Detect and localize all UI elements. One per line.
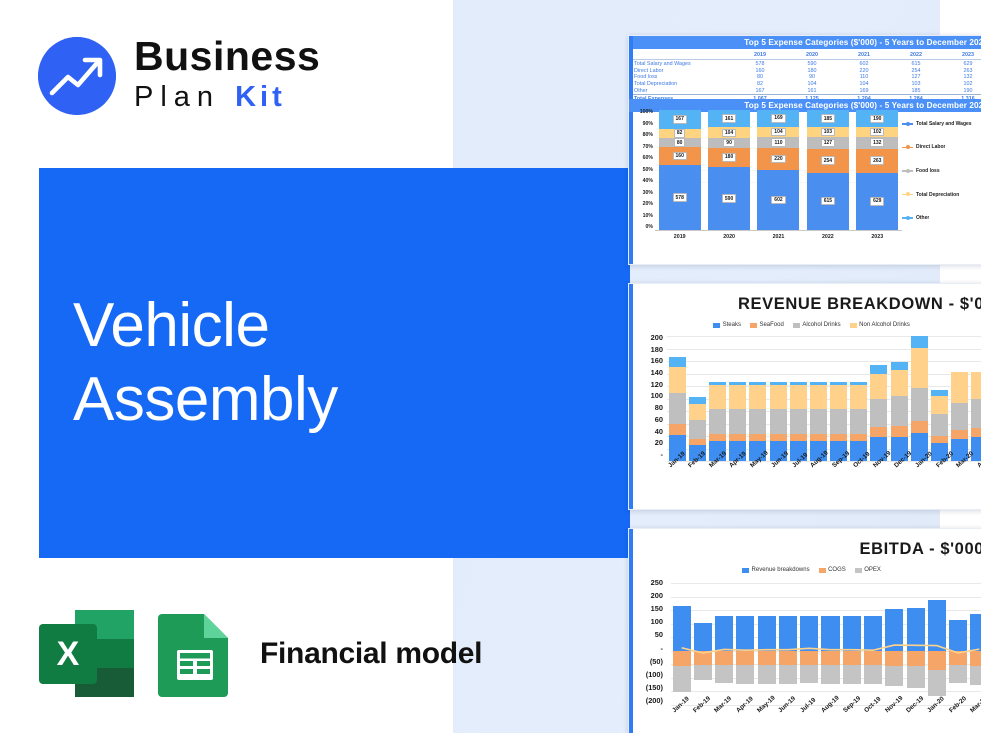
bar-segment [669,357,686,367]
legend-item[interactable]: Total Salary and Wages [902,121,981,127]
brand-line-plan-kit: Plan Kit [134,80,320,114]
bar-segment [709,434,726,442]
col-2022: 2022 [890,52,942,60]
cell: 161 [786,88,838,95]
table-row: Direct Labor 160 180 220 254 263 [629,67,981,74]
legend-swatch [793,323,800,328]
cell: 80 [734,74,786,81]
chart-x-axis: Jan-19Feb-19Mar-19Apr-19May-19Jun-19Jul-… [667,464,981,471]
bar-segment [931,436,948,443]
legend-swatch [902,194,913,196]
chart-plot-area [671,583,981,705]
legend-item[interactable]: Revenue breakdowns [742,567,810,573]
cell: 220 [838,67,890,74]
y-tick: 30% [631,191,653,196]
bar-segment: 578 [659,165,701,230]
cell: 127 [890,74,942,81]
stacked-bar [870,336,887,461]
bar-value-label: 90 [723,139,735,147]
bar-value-label: 169 [771,114,785,122]
expense-table-title: Top 5 Expense Categories ($'000) - 5 Yea… [629,36,981,49]
bar-segment: 80 [659,138,701,147]
table-header-row: 2019 2020 2021 2022 2023 [629,52,981,60]
stacked-bar [951,336,968,461]
bar-segment [770,409,787,433]
legend-label: Total Depreciation [916,192,959,198]
cell: 90 [786,74,838,81]
y-tick: 150 [633,605,663,613]
bar-segment [951,430,968,439]
bar-segment [810,385,827,409]
cell: 104 [786,81,838,88]
bar-segment [850,385,867,409]
format-badge-label: Financial model [260,637,482,671]
bar-segment: 220 [757,148,799,170]
bar-segment: 82 [659,129,701,138]
col-label [629,52,734,60]
brand-wordmark: Business Plan Kit [134,34,320,114]
y-tick: 100 [633,392,663,400]
legend-item[interactable]: Food loss [902,168,981,174]
bar-value-label: 167 [673,115,687,123]
stacked-bar [790,336,807,461]
bar-segment [729,409,746,433]
y-tick: - [633,451,663,459]
legend-label: Revenue breakdowns [752,567,810,573]
bar-segment [870,399,887,428]
bar-value-label: 127 [821,139,835,147]
y-tick: 120 [633,381,663,389]
ebitda-trend-line [671,583,981,707]
bar-segment [911,388,928,421]
bar-segment [830,434,847,442]
stacked-bar [709,336,726,461]
legend-swatch [742,568,749,573]
bar-segment: 590 [708,167,750,230]
brand-kit-text: Kit [235,81,286,113]
bar-segment [830,409,847,433]
cell: 190 [942,88,981,95]
bar-segment: 629 [856,173,898,230]
y-tick: (50) [633,658,663,666]
bar-segment [911,348,928,388]
bar-segment: 254 [807,149,849,173]
bar-segment [810,409,827,433]
stacked-bar [971,336,981,461]
bar-segment [951,403,968,430]
bar-segment: 110 [757,137,799,148]
legend-label: OPEX [864,567,881,573]
chart-x-axis: 20192020202120222023 [655,234,902,240]
y-tick: 60 [633,416,663,424]
chart-y-axis: 25020015010050-(50)(100)(150)(200) [633,579,663,705]
cell: 110 [838,74,890,81]
bar-value-label: 190 [870,115,884,123]
y-tick: 50 [633,631,663,639]
bar-segment: 127 [807,137,849,149]
bar-segment [911,336,928,348]
bar-segment [971,372,981,399]
legend-item[interactable]: Steaks [713,322,741,328]
cell: 578 [734,60,786,67]
revenue-chart-title: REVENUE BREAKDOWN - $'0 [738,295,981,314]
brand-logo: Business Plan Kit [38,36,368,118]
col-2019: 2019 [734,52,786,60]
legend-swatch [819,568,826,573]
bar-value-label: 132 [870,138,884,146]
stacked-bar [749,336,766,461]
bar-segment [689,420,706,439]
legend-swatch [855,568,862,573]
bar-segment [931,414,948,436]
row-label: Food loss [629,74,734,81]
y-tick: - [633,645,663,653]
chart-bars [667,336,981,461]
y-tick: 80% [631,133,653,138]
bar-segment [709,385,726,409]
stacked-bar: 190102132263629 [856,110,898,230]
bar-value-label: 82 [674,129,686,137]
legend-label: Non Alcohol Drinks [859,322,910,328]
bar-segment [729,434,746,442]
bar-segment [729,385,746,409]
bar-segment [790,409,807,433]
legend-label: COGS [828,567,846,573]
y-tick: 100 [633,618,663,626]
bar-segment: 132 [856,137,898,149]
y-tick: 50% [631,168,653,173]
legend-item[interactable]: Direct Labor [902,144,981,150]
revenue-chart-legend: SteaksSeaFoodAlcohol DrinksNon Alcohol D… [629,322,981,328]
bar-segment [891,396,908,426]
legend-swatch [902,147,913,149]
bar-segment [790,434,807,442]
bar-segment [971,437,981,461]
chart-legend: Total Salary and WagesDirect LaborFood l… [902,112,981,230]
page-title: Vehicle Assembly [73,289,593,437]
bar-segment [830,385,847,409]
cell: 169 [838,88,890,95]
stacked-bar: 169104110220602 [757,110,799,230]
bar-value-label: 160 [673,152,687,160]
stacked-bar [810,336,827,461]
bar-segment [951,372,968,403]
bar-value-label: 629 [870,197,884,205]
ebitda-chart-legend: Revenue breakdownsCOGSOPEX [629,567,981,573]
bar-segment: 180 [708,148,750,167]
cell: 615 [890,60,942,67]
legend-swatch [850,323,857,328]
bar-segment: 160 [659,147,701,165]
y-tick: 10% [631,214,653,219]
x-tick: 2023 [856,234,898,240]
bar-segment [931,396,948,414]
bar-segment: 263 [856,149,898,173]
y-tick: 80 [633,404,663,412]
expense-percent-stacked-chart: 100%90%80%70%60%50%40%30%20%10%0% 167828… [629,106,981,264]
y-tick: 60% [631,156,653,161]
cell: 160 [734,67,786,74]
bar-segment [971,399,981,428]
bar-value-label: 220 [771,155,785,163]
google-sheets-icon [156,610,234,697]
bar-segment [749,434,766,442]
bar-segment [709,409,726,433]
bar-segment [971,428,981,437]
x-tick: 2021 [757,234,799,240]
stacked-bar [770,336,787,461]
row-label: Direct Labor [629,67,734,74]
row-label: Total Depreciation [629,81,734,88]
chart-y-axis: 20018016014012010080604020- [633,334,663,459]
chart-plot-area [667,336,981,461]
table-row: Total Depreciation 82 104 104 103 102 [629,81,981,88]
slide-canvas: Business Plan Kit Vehicle Assembly X [0,0,981,733]
bar-value-label: 254 [821,156,835,164]
cell: 602 [838,60,890,67]
chart-x-axis: Jan-19Feb-19Mar-19Apr-19May-19Jun-19Jul-… [671,709,981,716]
microsoft-excel-icon: X [39,610,134,697]
stacked-bar: 1678280160578 [659,110,701,230]
legend-item[interactable]: Total Depreciation [902,192,981,198]
bar-value-label: 161 [722,114,736,122]
bar-segment: 615 [807,173,849,230]
legend-label: Direct Labor [916,144,945,150]
col-2023: 2023 [942,52,981,60]
stacked-bar [830,336,847,461]
cell: 102 [942,81,981,88]
bar-segment [891,362,908,371]
stacked-bar [689,336,706,461]
legend-item[interactable]: COGS [819,567,846,573]
bar-value-label: 104 [722,129,736,137]
y-tick: (150) [633,684,663,692]
y-tick: 160 [633,357,663,365]
expense-table: 2019 2020 2021 2022 2023 Total Salary an… [629,52,981,102]
bar-segment: 103 [807,127,849,137]
bar-segment [870,374,887,398]
legend-swatch [750,323,757,328]
bar-segment [850,409,867,433]
ebitda-chart-body: 25020015010050-(50)(100)(150)(200) Jan-1… [629,579,981,733]
bar-segment: 169 [757,110,799,127]
bar-segment [911,421,928,433]
stacked-bar: 16110490180590 [708,110,750,230]
legend-label: Total Salary and Wages [916,121,972,127]
y-tick: 180 [633,346,663,354]
page-title-line-1: Vehicle [73,289,593,363]
table-row: Total Salary and Wages 578 590 602 615 6… [629,60,981,67]
cell: 103 [890,81,942,88]
bar-value-label: 180 [722,153,736,161]
legend-swatch [902,217,913,219]
ebitda-card[interactable]: EBITDA - $'000 Revenue breakdownsCOGSOPE… [628,528,981,733]
bar-value-label: 602 [771,196,785,204]
expense-categories-card[interactable]: Top 5 Expense Categories ($'000) - 5 Yea… [628,35,981,265]
cell: 263 [942,67,981,74]
bar-value-label: 263 [870,156,884,164]
bar-segment: 102 [856,127,898,136]
y-tick: 100% [631,110,653,115]
svg-text:X: X [57,635,80,673]
legend-item[interactable]: Alcohol Drinks [793,322,841,328]
y-tick: 20 [633,439,663,447]
x-tick: 2022 [807,234,849,240]
legend-item[interactable]: Non Alcohol Drinks [850,322,910,328]
cell: 104 [838,81,890,88]
bar-segment: 167 [659,110,701,129]
y-tick: 250 [633,579,663,587]
legend-item[interactable]: Other [902,215,981,221]
legend-swatch [713,323,720,328]
bar-segment: 90 [708,138,750,148]
legend-label: Other [916,215,929,221]
bar-segment [790,385,807,409]
bar-segment [870,365,887,374]
growth-arrow-chart-icon [38,37,116,115]
bar-value-label: 80 [674,138,686,146]
stacked-bar [729,336,746,461]
revenue-breakdown-card[interactable]: REVENUE BREAKDOWN - $'0 SteaksSeaFoodAlc… [628,283,981,510]
y-tick: 200 [633,592,663,600]
legend-label: Food loss [916,168,940,174]
cell: 82 [734,81,786,88]
revenue-chart-body: 20018016014012010080604020- Jan-19Feb-19… [629,334,981,509]
legend-swatch [902,123,913,125]
x-tick: 2020 [708,234,750,240]
cell: 185 [890,88,942,95]
bar-segment: 104 [757,127,799,137]
legend-label: Steaks [723,322,741,328]
legend-item[interactable]: OPEX [855,567,881,573]
bar-segment [689,404,706,420]
cell: 180 [786,67,838,74]
bar-value-label: 104 [771,128,785,136]
y-tick: (100) [633,671,663,679]
cell: 132 [942,74,981,81]
y-tick: 200 [633,334,663,342]
bar-segment [870,427,887,437]
page-title-line-2: Assembly [73,363,593,437]
bar-value-label: 102 [870,128,884,136]
bar-segment [770,385,787,409]
ebitda-chart-title: EBITDA - $'000 [860,540,981,559]
bar-segment [669,367,686,393]
row-label: Total Salary and Wages [629,60,734,67]
cell: 167 [734,88,786,95]
table-row: Food loss 80 90 110 127 132 [629,74,981,81]
stacked-bar: 185103127254615 [807,110,849,230]
bar-segment [749,409,766,433]
bar-value-label: 103 [821,128,835,136]
bar-segment: 161 [708,110,750,127]
chart-plot-area: 1678280160578161104901805901691041102206… [655,110,902,231]
bar-segment [669,393,686,424]
stacked-bar [669,336,686,461]
stacked-bar [891,336,908,461]
y-tick: 40% [631,179,653,184]
bar-segment [891,370,908,396]
bar-value-label: 185 [821,114,835,122]
cell: 590 [786,60,838,67]
y-tick: 140 [633,369,663,377]
bar-value-label: 110 [771,138,785,146]
chart-y-axis: 100%90%80%70%60%50%40%30%20%10%0% [631,110,653,230]
bar-segment [669,424,686,436]
brand-line-business: Business [134,34,320,78]
bar-segment [689,439,706,446]
brand-plan-text: Plan [134,81,235,113]
bar-value-label: 590 [722,194,736,202]
bar-segment [810,434,827,442]
legend-swatch [902,170,913,172]
bar-segment: 185 [807,110,849,127]
bar-segment [850,434,867,442]
cell: 254 [890,67,942,74]
legend-label: Alcohol Drinks [802,322,840,328]
col-2020: 2020 [786,52,838,60]
y-tick: 40 [633,428,663,436]
y-tick: (200) [633,697,663,705]
bar-segment [749,385,766,409]
bar-segment [770,434,787,442]
bar-value-label: 615 [821,197,835,205]
bar-segment: 104 [708,127,750,138]
bar-segment: 602 [757,170,799,230]
stacked-bar [911,336,928,461]
stacked-bar [931,336,948,461]
legend-item[interactable]: SeaFood [750,322,784,328]
y-tick: 70% [631,145,653,150]
y-tick: 0% [631,225,653,230]
y-tick: 90% [631,122,653,127]
bar-segment: 190 [856,110,898,127]
y-tick: 20% [631,202,653,207]
x-tick: 2019 [659,234,701,240]
legend-label: SeaFood [759,322,783,328]
table-row: Other 167 161 169 185 190 [629,88,981,95]
col-2021: 2021 [838,52,890,60]
row-label: Other [629,88,734,95]
stacked-bar [850,336,867,461]
bar-segment [891,426,908,437]
cell: 629 [942,60,981,67]
bar-value-label: 578 [673,193,687,201]
format-badges: X Financial model [39,610,482,697]
